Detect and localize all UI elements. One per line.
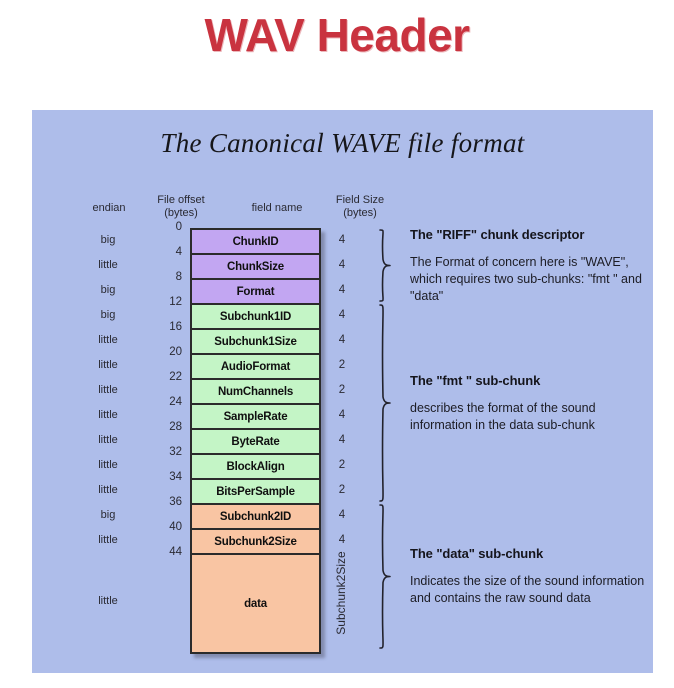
file-offset-label-36: 36 bbox=[142, 496, 182, 508]
field-name-label: AudioFormat bbox=[221, 361, 290, 373]
field-size-label-subchunk2id: 4 bbox=[328, 509, 356, 521]
field-name-label: SampleRate bbox=[224, 411, 288, 423]
endian-label-audioformat: little bbox=[74, 359, 142, 371]
diagram-panel: The Canonical WAVE file format endian Fi… bbox=[32, 110, 653, 673]
field-name-label: BlockAlign bbox=[226, 461, 284, 473]
annotation-data-title: The "data" sub-chunk bbox=[410, 546, 650, 561]
field-row-subchunk1size: Subchunk1Size bbox=[192, 330, 319, 355]
field-row-blockalign: BlockAlign bbox=[192, 455, 319, 480]
field-name-label: Subchunk2ID bbox=[220, 511, 291, 523]
field-size-label-chunksize: 4 bbox=[328, 259, 356, 271]
field-name-label: data bbox=[244, 598, 267, 610]
file-offset-label-8: 8 bbox=[142, 271, 182, 283]
field-size-label-format: 4 bbox=[328, 284, 356, 296]
page-title: WAV Header bbox=[0, 8, 674, 62]
file-offset-label-4: 4 bbox=[142, 246, 182, 258]
file-offset-label-28: 28 bbox=[142, 421, 182, 433]
annotation-fmt-body: describes the format of the sound inform… bbox=[410, 400, 650, 434]
file-offset-label-24: 24 bbox=[142, 396, 182, 408]
endian-label-numchannels: little bbox=[74, 384, 142, 396]
field-name-label: Subchunk1ID bbox=[220, 311, 291, 323]
field-row-samplerate: SampleRate bbox=[192, 405, 319, 430]
column-header-file-offset-line1: File offset bbox=[138, 194, 224, 207]
column-header-field-size: Field Size (bytes) bbox=[310, 194, 410, 220]
field-row-data: data bbox=[192, 555, 319, 652]
annotation-data: The "data" sub-chunk Indicates the size … bbox=[410, 546, 650, 607]
field-name-label: Format bbox=[237, 286, 275, 298]
endian-label-subchunk1size: little bbox=[74, 334, 142, 346]
field-name-label: Subchunk2Size bbox=[214, 536, 296, 548]
field-row-byterate: ByteRate bbox=[192, 430, 319, 455]
endian-label-chunkid: big bbox=[74, 234, 142, 246]
subchunk2size-vertical-label: Subchunk2Size bbox=[334, 538, 348, 648]
field-name-label: NumChannels bbox=[218, 386, 293, 398]
field-row-chunkid: ChunkID bbox=[192, 230, 319, 255]
field-size-label-subchunk1size: 4 bbox=[328, 334, 356, 346]
annotation-fmt: The "fmt " sub-chunk describes the forma… bbox=[410, 373, 650, 434]
field-row-subchunk2size: Subchunk2Size bbox=[192, 530, 319, 555]
field-size-label-numchannels: 2 bbox=[328, 384, 356, 396]
endian-label-bitspersample: little bbox=[74, 484, 142, 496]
file-offset-label-44: 44 bbox=[142, 546, 182, 558]
annotation-riff-title: The "RIFF" chunk descriptor bbox=[410, 227, 650, 242]
endian-label-format: big bbox=[74, 284, 142, 296]
field-size-label-audioformat: 2 bbox=[328, 359, 356, 371]
endian-label-blockalign: little bbox=[74, 459, 142, 471]
file-offset-label-20: 20 bbox=[142, 346, 182, 358]
field-size-label-bitspersample: 2 bbox=[328, 484, 356, 496]
file-offset-label-12: 12 bbox=[142, 296, 182, 308]
annotation-fmt-title: The "fmt " sub-chunk bbox=[410, 373, 650, 388]
column-header-field-size-line2: (bytes) bbox=[310, 207, 410, 220]
file-offset-label-16: 16 bbox=[142, 321, 182, 333]
field-row-chunksize: ChunkSize bbox=[192, 255, 319, 280]
field-row-audioformat: AudioFormat bbox=[192, 355, 319, 380]
annotation-riff-body: The Format of concern here is "WAVE", wh… bbox=[410, 254, 650, 305]
wav-header-field-table: ChunkIDChunkSizeFormatSubchunk1IDSubchun… bbox=[190, 228, 321, 654]
field-size-label-chunkid: 4 bbox=[328, 234, 356, 246]
column-header-file-offset-line2: (bytes) bbox=[138, 207, 224, 220]
field-row-numchannels: NumChannels bbox=[192, 380, 319, 405]
field-name-label: ByteRate bbox=[231, 436, 279, 448]
field-size-label-byterate: 4 bbox=[328, 434, 356, 446]
endian-label-data: little bbox=[74, 595, 142, 607]
diagram-title: The Canonical WAVE file format bbox=[32, 128, 653, 159]
file-offset-label-22: 22 bbox=[142, 371, 182, 383]
file-offset-label-34: 34 bbox=[142, 471, 182, 483]
brace-riff-icon bbox=[378, 228, 391, 303]
column-header-endian-line1: endian bbox=[74, 202, 144, 215]
file-offset-label-40: 40 bbox=[142, 521, 182, 533]
field-row-subchunk2id: Subchunk2ID bbox=[192, 505, 319, 530]
field-name-label: Subchunk1Size bbox=[214, 336, 296, 348]
brace-data-icon bbox=[378, 503, 391, 650]
endian-label-subchunk2id: big bbox=[74, 509, 142, 521]
column-header-file-offset: File offset (bytes) bbox=[138, 194, 224, 220]
file-offset-label-0: 0 bbox=[142, 221, 182, 233]
column-header-field-size-line1: Field Size bbox=[310, 194, 410, 207]
field-name-label: ChunkSize bbox=[227, 261, 284, 273]
field-size-label-blockalign: 2 bbox=[328, 459, 356, 471]
column-header-endian: endian bbox=[74, 202, 144, 215]
field-row-subchunk1id: Subchunk1ID bbox=[192, 305, 319, 330]
brace-fmt-icon bbox=[378, 303, 391, 503]
endian-label-byterate: little bbox=[74, 434, 142, 446]
endian-label-subchunk2size: little bbox=[74, 534, 142, 546]
file-offset-label-32: 32 bbox=[142, 446, 182, 458]
annotation-data-body: Indicates the size of the sound informat… bbox=[410, 573, 650, 607]
endian-label-subchunk1id: big bbox=[74, 309, 142, 321]
annotation-riff: The "RIFF" chunk descriptor The Format o… bbox=[410, 227, 650, 305]
endian-label-chunksize: little bbox=[74, 259, 142, 271]
endian-label-samplerate: little bbox=[74, 409, 142, 421]
field-row-bitspersample: BitsPerSample bbox=[192, 480, 319, 505]
field-size-label-subchunk1id: 4 bbox=[328, 309, 356, 321]
field-name-label: ChunkID bbox=[233, 236, 279, 248]
field-name-label: BitsPerSample bbox=[216, 486, 295, 498]
field-row-format: Format bbox=[192, 280, 319, 305]
field-size-label-samplerate: 4 bbox=[328, 409, 356, 421]
